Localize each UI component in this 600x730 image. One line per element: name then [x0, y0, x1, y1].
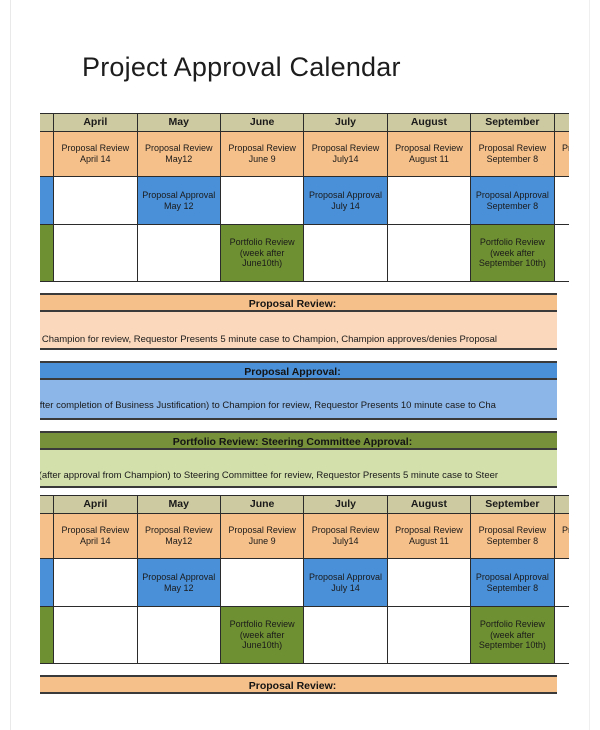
- cell-approval-july[interactable]: Proposal Approval July 14: [304, 177, 387, 225]
- spreadsheet-viewport: April May June July August September Oct…: [40, 113, 569, 713]
- cell-approval-april[interactable]: [54, 177, 137, 225]
- cell-portfolio-august[interactable]: [387, 607, 470, 664]
- band-body-proposal-approval: th Summary (after completion of Business…: [40, 380, 557, 420]
- band-body-portfolio-review: Summaries (after approval from Champion)…: [40, 450, 557, 488]
- cell-portfolio-june[interactable]: Portfolio Review (week after June10th): [220, 225, 303, 282]
- cell-review-october[interactable]: Proposal Review October 13: [554, 132, 569, 177]
- legend-band-proposal-review: Proposal Review: Summary to Champion for…: [40, 293, 557, 350]
- legend-band-proposal-review-bottom: Proposal Review:: [40, 675, 557, 694]
- cell-review-june[interactable]: Proposal Review June 9: [220, 132, 303, 177]
- month-header-july: July: [304, 114, 387, 132]
- cell-portfolio-september[interactable]: Portfolio Review (week after September 1…: [471, 225, 554, 282]
- band-text-proposal-review: Summary to Champion for review, Requesto…: [40, 334, 497, 345]
- month-header-june: June: [220, 114, 303, 132]
- row-label-proposal-review: [40, 132, 54, 177]
- legend-band-portfolio-review: Portfolio Review: Steering Committee App…: [40, 431, 557, 488]
- cell-portfolio-july[interactable]: [304, 225, 387, 282]
- month-header-april: April: [54, 114, 137, 132]
- cell-review-july[interactable]: Proposal Review July14: [304, 132, 387, 177]
- row-label-header: [40, 496, 54, 514]
- cell-approval-july[interactable]: Proposal Approval July 14: [304, 559, 387, 607]
- month-header-july: July: [304, 496, 387, 514]
- cell-review-august[interactable]: Proposal Review August 11: [387, 514, 470, 559]
- cell-review-may[interactable]: Proposal Review May12: [137, 514, 220, 559]
- cell-review-october[interactable]: Proposal Review October 13: [554, 514, 569, 559]
- table-row: Proposal Review April 14 Proposal Review…: [40, 514, 569, 559]
- cell-approval-october[interactable]: [554, 177, 569, 225]
- month-header-september: September: [471, 114, 554, 132]
- band-spacer: [40, 664, 569, 675]
- table-row: Proposal Approval May 12 Proposal Approv…: [40, 559, 569, 607]
- calendar-header-row: April May June July August September Oct…: [40, 496, 569, 514]
- month-header-august: August: [387, 496, 470, 514]
- cell-approval-september[interactable]: Proposal Approval September 8: [471, 177, 554, 225]
- month-header-june: June: [220, 496, 303, 514]
- cell-review-july[interactable]: Proposal Review July14: [304, 514, 387, 559]
- month-header-april: April: [54, 496, 137, 514]
- band-text-portfolio-review: Summaries (after approval from Champion)…: [40, 470, 498, 481]
- month-header-august: August: [387, 114, 470, 132]
- document-page: Project Approval Calendar April May June…: [0, 0, 600, 730]
- cell-portfolio-october[interactable]: [554, 225, 569, 282]
- cell-review-september[interactable]: Proposal Review September 8: [471, 132, 554, 177]
- band-spacer: [40, 350, 569, 361]
- month-header-october: October: [554, 114, 569, 132]
- cell-portfolio-may[interactable]: [137, 225, 220, 282]
- cell-approval-may[interactable]: Proposal Approval May 12: [137, 177, 220, 225]
- month-header-may: May: [137, 496, 220, 514]
- cell-approval-august[interactable]: [387, 177, 470, 225]
- table-row: Portfolio Review (week after June10th) P…: [40, 225, 569, 282]
- month-header-may: May: [137, 114, 220, 132]
- band-title-proposal-review-bottom: Proposal Review:: [40, 675, 557, 694]
- band-body-proposal-review: Summary to Champion for review, Requesto…: [40, 312, 557, 350]
- band-spacer: [40, 488, 569, 495]
- cell-approval-october[interactable]: [554, 559, 569, 607]
- band-text-proposal-approval: Summary (after completion of Business Ju…: [40, 400, 496, 411]
- cell-approval-may[interactable]: Proposal Approval May 12: [137, 559, 220, 607]
- page-title: Project Approval Calendar: [82, 52, 401, 83]
- cell-review-august[interactable]: Proposal Review August 11: [387, 132, 470, 177]
- table-row: Portfolio Review (week after June10th) P…: [40, 607, 569, 664]
- calendar-table-bottom: April May June July August September Oct…: [40, 495, 569, 664]
- cell-review-april[interactable]: Proposal Review April 14: [54, 132, 137, 177]
- cell-approval-september[interactable]: Proposal Approval September 8: [471, 559, 554, 607]
- cell-approval-august[interactable]: [387, 559, 470, 607]
- cell-portfolio-may[interactable]: [137, 607, 220, 664]
- cell-portfolio-august[interactable]: [387, 225, 470, 282]
- band-title-portfolio-review: Portfolio Review: Steering Committee App…: [40, 431, 557, 450]
- month-header-september: September: [471, 496, 554, 514]
- row-label-portfolio-review: [40, 607, 54, 664]
- cell-portfolio-september[interactable]: Portfolio Review (week after September 1…: [471, 607, 554, 664]
- legend-band-proposal-approval: Proposal Approval: th Summary (after com…: [40, 361, 557, 420]
- cell-portfolio-april[interactable]: [54, 607, 137, 664]
- row-label-header: [40, 114, 54, 132]
- cell-approval-june[interactable]: [220, 177, 303, 225]
- band-spacer: [40, 282, 569, 293]
- month-header-october: October: [554, 496, 569, 514]
- cell-portfolio-june[interactable]: Portfolio Review (week after June10th): [220, 607, 303, 664]
- table-row: Proposal Review April 14 Proposal Review…: [40, 132, 569, 177]
- cell-review-april[interactable]: Proposal Review April 14: [54, 514, 137, 559]
- calendar-table-top: April May June July August September Oct…: [40, 113, 569, 282]
- band-spacer: [40, 420, 569, 431]
- cell-portfolio-july[interactable]: [304, 607, 387, 664]
- row-label-proposal-review: [40, 514, 54, 559]
- table-row: Proposal Approval May 12 Proposal Approv…: [40, 177, 569, 225]
- cell-approval-april[interactable]: [54, 559, 137, 607]
- band-title-proposal-review: Proposal Review:: [40, 293, 557, 312]
- cell-review-may[interactable]: Proposal Review May12: [137, 132, 220, 177]
- cell-approval-june[interactable]: [220, 559, 303, 607]
- row-label-portfolio-review: [40, 225, 54, 282]
- band-title-proposal-approval: Proposal Approval:: [40, 361, 557, 380]
- cell-portfolio-october[interactable]: [554, 607, 569, 664]
- cell-review-june[interactable]: Proposal Review June 9: [220, 514, 303, 559]
- row-label-proposal-approval: [40, 177, 54, 225]
- calendar-header-row: April May June July August September Oct…: [40, 114, 569, 132]
- cell-portfolio-april[interactable]: [54, 225, 137, 282]
- row-label-proposal-approval: [40, 559, 54, 607]
- spreadsheet-content: April May June July August September Oct…: [40, 113, 569, 694]
- cell-review-september[interactable]: Proposal Review September 8: [471, 514, 554, 559]
